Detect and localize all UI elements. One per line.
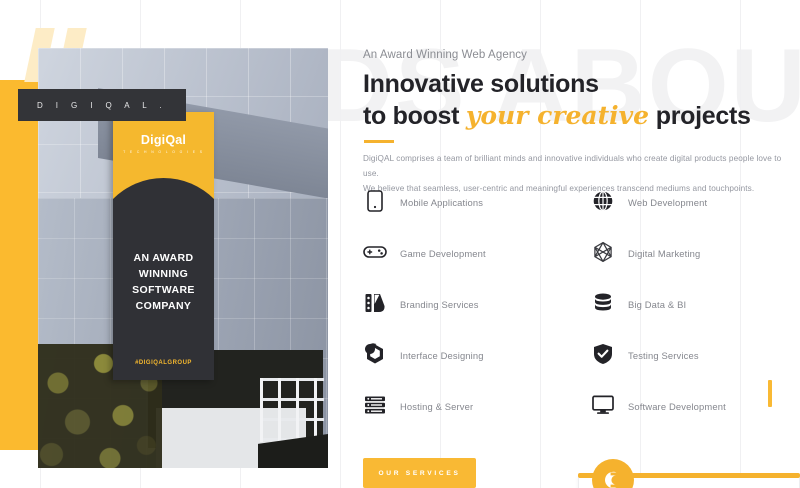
customer-support-widget[interactable]: Customer Support from DigiQAL Technologi… (578, 465, 800, 488)
banner-logo: DigiQal T E C H N O L O G I E S (113, 134, 214, 154)
service-label: Big Data & BI (628, 299, 686, 310)
banner-tagline-line4: COMPANY (113, 298, 214, 314)
photo-scaffold (260, 378, 324, 442)
content-column: An Award Winning Web Agency Innovative s… (363, 0, 800, 488)
headline-line1: Innovative solutions (363, 70, 599, 98)
ui-cube-icon (363, 342, 387, 366)
shield-check-icon (591, 342, 615, 366)
services-grid: Mobile Applications Web Development Game… (363, 192, 793, 447)
desktop-monitor-icon (591, 393, 615, 417)
network-hexagon-icon (591, 240, 615, 264)
banner-tagline-line1: AN AWARD (113, 250, 214, 266)
banner-tagline-line3: SOFTWARE (113, 282, 214, 298)
intro-paragraph-line1: DigiQAL comprises a team of brilliant mi… (363, 151, 783, 181)
service-label: Digital Marketing (628, 248, 700, 259)
banner-logo-name: DigiQal (113, 134, 214, 147)
banner-tagline-line2: WINNING (113, 266, 214, 282)
service-label: Mobile Applications (400, 197, 483, 208)
banner-hashtag: #DIGIQALGROUP (113, 360, 214, 366)
service-label: Branding Services (400, 299, 479, 310)
billboard-banner: DigiQal T E C H N O L O G I E S AN AWARD… (113, 112, 214, 380)
color-palette-icon (363, 291, 387, 315)
service-label: Testing Services (628, 350, 699, 361)
service-item-interface-designing[interactable]: Interface Designing (363, 345, 591, 396)
service-item-hosting-and-server[interactable]: Hosting & Server (363, 396, 591, 447)
service-item-software-development[interactable]: Software Development (591, 396, 793, 447)
service-item-digital-marketing[interactable]: Digital Marketing (591, 243, 793, 294)
service-item-web-development[interactable]: Web Development (591, 192, 793, 243)
service-label: Game Development (400, 248, 486, 259)
banner-logo-subtitle: T E C H N O L O G I E S (113, 150, 214, 154)
page-title: Innovative solutions to boost your creat… (363, 68, 793, 132)
service-item-mobile-applications[interactable]: Mobile Applications (363, 192, 591, 243)
page-root: DS ABOUT DigiQal T E C H N O L O G I E S… (0, 0, 800, 488)
mobile-phone-icon (363, 189, 387, 213)
headline-line2b: projects (649, 102, 751, 130)
our-services-button[interactable]: OUR SERVICES (363, 458, 476, 488)
banner-tagline: AN AWARD WINNING SOFTWARE COMPANY (113, 250, 214, 314)
eyebrow-text: An Award Winning Web Agency (363, 49, 527, 61)
gamepad-icon (363, 240, 387, 264)
intro-paragraph: DigiQAL comprises a team of brilliant mi… (363, 151, 783, 196)
database-icon (591, 291, 615, 315)
headline-line2a: to boost (363, 102, 466, 130)
service-label: Interface Designing (400, 350, 484, 361)
globe-icon (591, 189, 615, 213)
digiqal-d-logo-icon (592, 459, 634, 488)
service-label: Web Development (628, 197, 707, 208)
service-item-big-data-and-bi[interactable]: Big Data & BI (591, 294, 793, 345)
service-label: Hosting & Server (400, 401, 473, 412)
server-rack-icon (363, 393, 387, 417)
service-label: Software Development (628, 401, 726, 412)
service-item-branding-services[interactable]: Branding Services (363, 294, 591, 345)
service-item-game-development[interactable]: Game Development (363, 243, 591, 294)
headline-emphasis: your creative (466, 101, 649, 130)
decorative-vertical-accent (768, 380, 772, 407)
service-item-testing-services[interactable]: Testing Services (591, 345, 793, 396)
digiqal-label-bar: D I G I Q A L . (18, 89, 186, 121)
headline-underline (364, 140, 394, 143)
